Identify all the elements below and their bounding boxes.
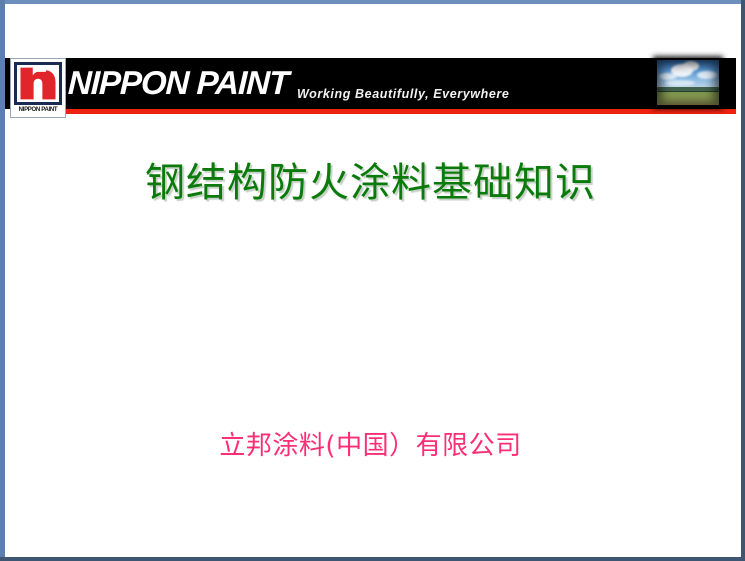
brand-name-text: NIPPON PAINT	[67, 63, 289, 103]
slide-title: 钢结构防火涂料基础知识	[5, 150, 736, 208]
company-name: 立邦涂料(中国）有限公司	[5, 425, 736, 462]
header-red-rule	[66, 109, 736, 114]
nippon-paint-logo: NIPPON PAINT	[10, 58, 66, 118]
slide-border-right	[741, 0, 745, 561]
presentation-slide: NIPPON PAINT NIPPON PAINT Working Beauti…	[0, 0, 745, 561]
logo-frame	[14, 62, 62, 105]
logo-wordmark-text: NIPPON PAINT	[14, 106, 62, 115]
slide-border-bottom	[0, 557, 745, 561]
logo-letter-n-icon	[17, 65, 59, 102]
photo-vignette	[657, 60, 719, 105]
brand-tagline-text: Working Beautifully, Everywhere	[297, 86, 509, 102]
landscape-photo-icon	[657, 60, 719, 105]
slide-border-top	[0, 0, 745, 4]
